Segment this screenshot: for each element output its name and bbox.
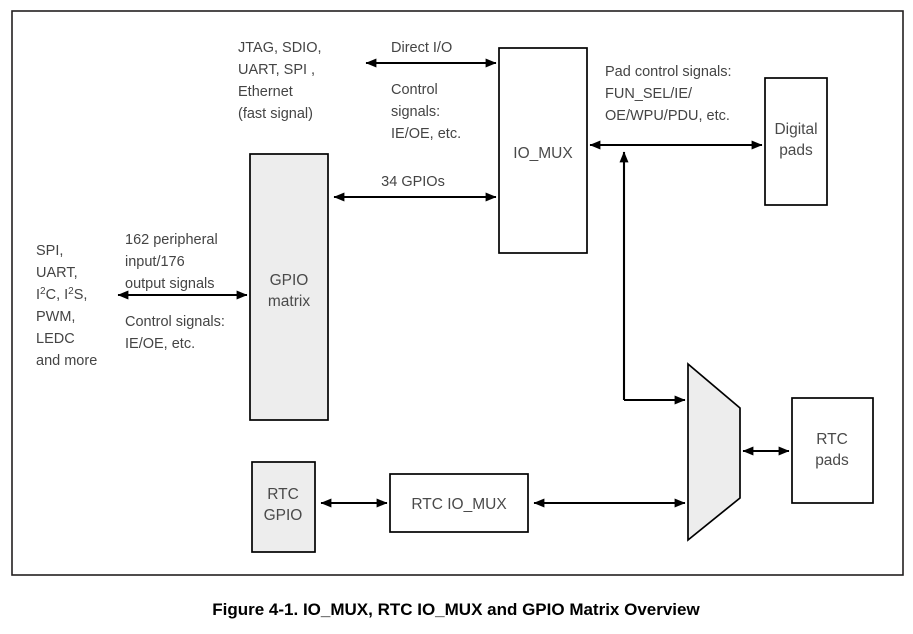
annotation-slow-peripherals-line3: I2C, I2S,: [36, 286, 87, 304]
block-digital-pads-label-line2: pads: [779, 142, 813, 159]
annotation-fast-peripherals-line2: UART, SPI ,: [238, 62, 315, 78]
block-io-mux-label: IO_MUX: [513, 145, 573, 162]
block-rtc-gpio-label-line1: RTC: [267, 486, 299, 503]
block-gpio-matrix-label-line2: matrix: [268, 293, 310, 310]
annotation-direct-io-line4: IE/OE, etc.: [391, 126, 461, 142]
annotation-pad-control-line3: OE/WPU/PDU, etc.: [605, 108, 730, 124]
annotation-fast-peripherals-line1: JTAG, SDIO,: [238, 40, 322, 56]
figure-caption: Figure 4-1. IO_MUX, RTC IO_MUX and GPIO …: [212, 600, 700, 619]
annotation-slow-peripherals-line4: PWM,: [36, 309, 75, 325]
annotation-fast-peripherals-line3: Ethernet: [238, 84, 293, 100]
annotation-slow-peripherals-line2: UART,: [36, 265, 78, 281]
annotation-pad-control-line1: Pad control signals:: [605, 64, 732, 80]
block-rtc-pads-label-line1: RTC: [816, 431, 848, 448]
block-rtc-pads-label-line2: pads: [815, 452, 849, 469]
annotation-pad-control-line2: FUN_SEL/IE/: [605, 86, 693, 102]
annotation-slow-peripherals-line5: LEDC: [36, 331, 75, 347]
block-digital-pads-label-line1: Digital: [774, 121, 817, 138]
annotation-peripheral-signals-line1: 162 peripheral: [125, 232, 218, 248]
figure-container: IO_MUX GPIO matrix Digital pads RTC GPIO…: [0, 0, 913, 634]
annotation-direct-io-line2: Control: [391, 82, 438, 98]
annotation-direct-io-line1: Direct I/O: [391, 40, 452, 56]
annotation-direct-io-line3: signals:: [391, 104, 440, 120]
block-rtc-io-mux-label: RTC IO_MUX: [411, 496, 507, 513]
block-rtc-gpio-label-line2: GPIO: [264, 507, 303, 524]
annotation-peripheral-signals-line3: output signals: [125, 276, 214, 292]
io-mux-overview-diagram: IO_MUX GPIO matrix Digital pads RTC GPIO…: [0, 0, 913, 634]
annotation-slow-peripherals-line1: SPI,: [36, 243, 63, 259]
annotation-peripheral-signals-line2: input/176: [125, 254, 185, 270]
block-analog-mux: [688, 364, 740, 540]
block-rtc-pads: [792, 398, 873, 503]
annotation-fast-peripherals-line4: (fast signal): [238, 106, 313, 122]
annotation-peripheral-signals-line4: Control signals:: [125, 314, 225, 330]
block-gpio-matrix-label-line1: GPIO: [270, 272, 309, 289]
i2c-i2s-part-b: C, I: [46, 287, 69, 303]
annotation-slow-peripherals-line6: and more: [36, 353, 97, 369]
i2c-i2s-part-c: S,: [74, 287, 88, 303]
annotation-peripheral-signals-line5: IE/OE, etc.: [125, 336, 195, 352]
annotation-gpio-count: 34 GPIOs: [381, 174, 445, 190]
